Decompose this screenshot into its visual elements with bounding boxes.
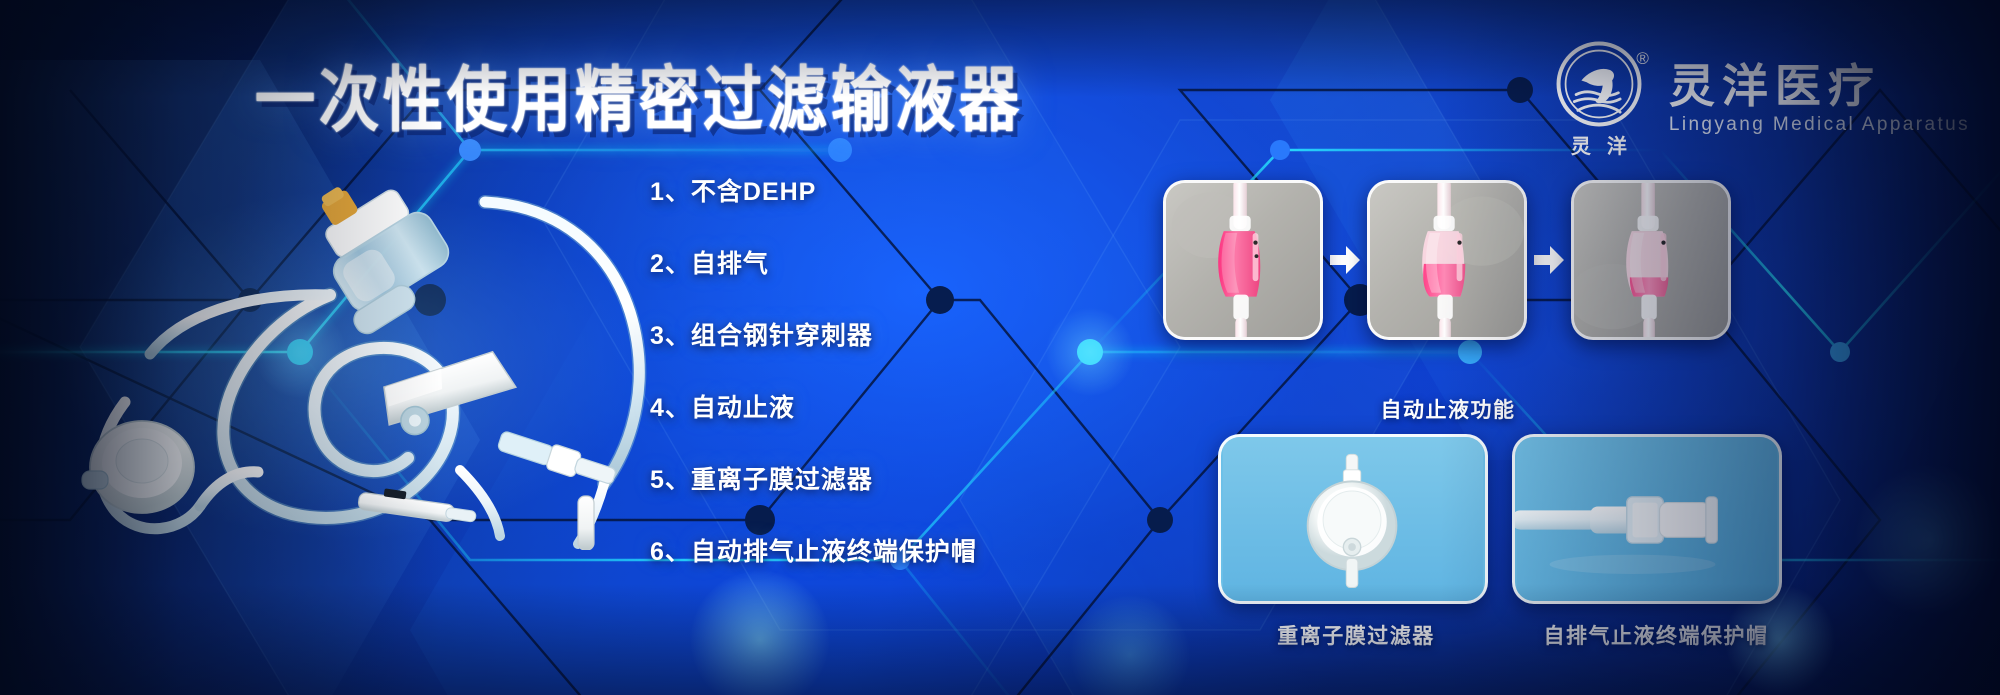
feature-item-4: 4、自动止液 [650,388,990,424]
feature-item-1: 1、不含DEHP [650,172,990,208]
autostop-shot-2 [1367,180,1527,340]
product-photo [30,140,670,550]
panel-caption-1: 重离子膜过滤器 [1218,620,1494,650]
panel-self-venting-stop-end-cap [1512,434,1782,604]
feature-item-5: 5、重离子膜过滤器 [650,460,990,496]
arrow-separator-1 [1323,243,1367,277]
infusion-set-illustration [30,140,670,550]
feature-item-3: 3、组合钢针穿刺器 [650,316,990,352]
feature-panels [1218,434,1782,604]
autostop-shot-3-image [1574,183,1728,337]
autostop-shot-2-image [1370,183,1524,337]
panel-caption-2: 自排气止液终端保护帽 [1518,620,1794,650]
lingyang-seal-icon [1555,40,1643,128]
feature-list: 1、不含DEHP 2、自排气 3、组合钢针穿刺器 4、自动止液 5、重离子膜过滤… [650,172,990,568]
autostop-photo-strip [1163,180,1731,340]
panel-heavy-ion-membrane-filter [1218,434,1488,604]
company-name-en: Lingyang Medical Apparatus [1669,114,1970,136]
arrow-right-icon [1328,243,1362,277]
product-banner: 一次性使用精密过滤输液器 ® 灵洋 灵洋医疗 Lingyang Medical … [0,0,2000,695]
feature-item-2: 2、自排气 [650,244,990,280]
panel-caption-row: 重离子膜过滤器 自排气止液终端保护帽 [1218,620,1794,650]
autostop-shot-3 [1571,180,1731,340]
company-name-cn: 灵洋医疗 [1669,61,1970,112]
page-title: 一次性使用精密过滤输液器 [255,43,1023,146]
brand-logo: ® 灵洋 灵洋医疗 Lingyang Medical Apparatus [1551,40,1970,159]
autostop-shot-1-image [1166,183,1320,337]
membrane-filter-image [1221,437,1485,601]
arrow-separator-2 [1527,243,1571,277]
registered-trademark-icon: ® [1636,50,1649,67]
logo-mark-subtext: 灵洋 [1551,130,1647,159]
autostop-shot-1 [1163,180,1323,340]
logo-wordmark: 灵洋医疗 Lingyang Medical Apparatus [1669,61,1970,138]
feature-item-6: 6、自动排气止液终端保护帽 [650,532,990,568]
end-cap-image [1515,437,1779,601]
autostop-caption: 自动止液功能 [1163,394,1733,424]
arrow-right-icon [1532,243,1566,277]
logo-mark: ® 灵洋 [1551,40,1647,159]
